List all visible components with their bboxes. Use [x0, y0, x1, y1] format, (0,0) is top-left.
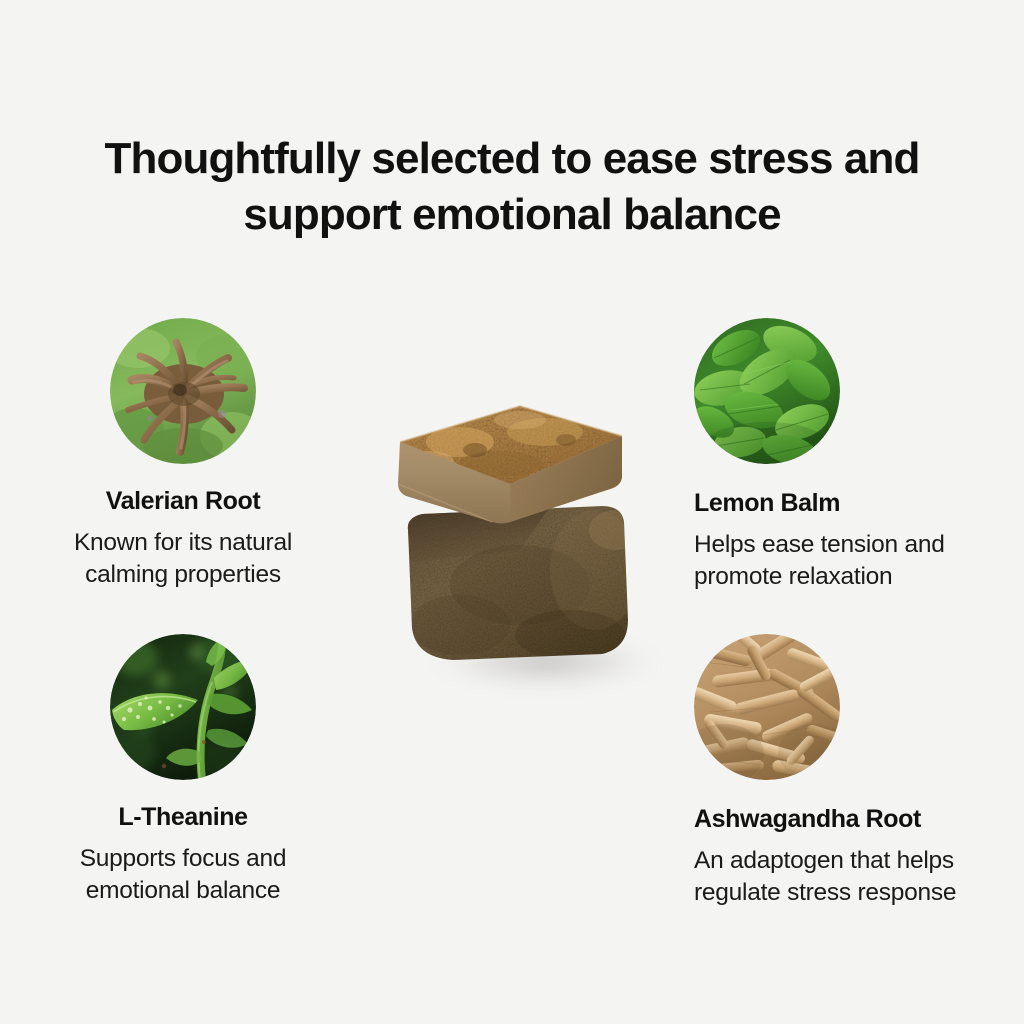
headline-line-2: support emotional balance: [70, 187, 954, 242]
ingredient-description: Known for its natural calming properties: [33, 527, 333, 592]
ingredient-name: Lemon Balm: [694, 488, 994, 518]
ingredient-l-theanine: L-Theanine Supports focus and emotional …: [33, 634, 333, 908]
bottom-cube: [408, 506, 641, 660]
stacked-supplement-cubes-photo: [370, 380, 710, 720]
page-title: Thoughtfully selected to ease stress and…: [0, 131, 1024, 242]
ashwagandha-root-photo: [694, 634, 840, 780]
ingredient-description: Supports focus and emotional balance: [33, 843, 333, 908]
infographic-canvas: Thoughtfully selected to ease stress and…: [0, 0, 1024, 1024]
ingredient-lemon-balm: Lemon Balm Helps ease tension and promot…: [694, 318, 994, 594]
headline-line-1: Thoughtfully selected to ease stress and: [70, 131, 954, 186]
lemon-balm-photo: [694, 318, 840, 464]
top-cube: [398, 406, 622, 524]
ingredient-name: Ashwagandha Root: [694, 804, 994, 834]
ingredient-ashwagandha-root: Ashwagandha Root An adaptogen that helps…: [694, 634, 994, 910]
valerian-root-photo: [110, 318, 256, 464]
ingredient-name: L-Theanine: [33, 802, 333, 832]
ingredient-valerian-root: Valerian Root Known for its natural calm…: [33, 318, 333, 592]
l-theanine-photo: [110, 634, 256, 780]
ingredient-description: Helps ease tension and promote relaxatio…: [694, 529, 994, 594]
ingredient-name: Valerian Root: [33, 486, 333, 516]
ingredient-description: An adaptogen that helps regulate stress …: [694, 845, 994, 910]
